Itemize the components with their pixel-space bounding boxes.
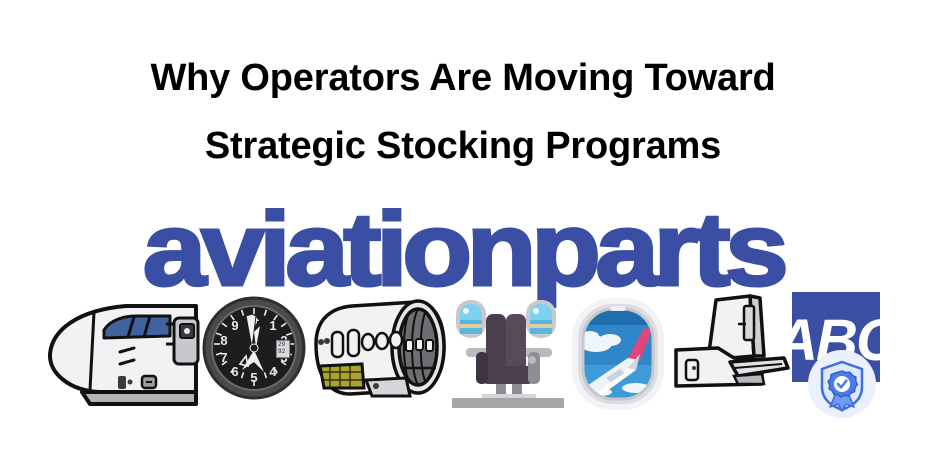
svg-text:92: 92 xyxy=(278,348,286,355)
fuselage-barrel-icon xyxy=(306,292,454,410)
page-title: Why Operators Are Moving Toward Strategi… xyxy=(0,44,926,180)
aircraft-nose-cockpit-icon xyxy=(38,292,206,412)
svg-text:29: 29 xyxy=(278,341,286,348)
page-title-line-2: Strategic Stocking Programs xyxy=(0,112,926,180)
brand-wordmark: aviationparts xyxy=(0,198,926,302)
svg-text:5: 5 xyxy=(250,370,257,385)
page-title-line-1: Why Operators Are Moving Toward xyxy=(150,57,775,99)
svg-text:4: 4 xyxy=(269,364,277,379)
image-canvas: Why Operators Are Moving Toward Strategi… xyxy=(0,0,926,453)
abc-certified-badge-icon: ABC xyxy=(790,292,888,420)
aircraft-tail-icon xyxy=(672,292,792,398)
svg-text:7: 7 xyxy=(220,350,227,365)
aircraft-seat-icon xyxy=(452,292,564,412)
svg-text:9: 9 xyxy=(231,318,238,333)
svg-text:6: 6 xyxy=(231,364,238,379)
svg-text:8: 8 xyxy=(220,333,227,348)
altimeter-gauge-icon: 0 1 2 3 4 5 6 7 8 9 2992 xyxy=(202,292,306,410)
svg-text:1: 1 xyxy=(269,318,276,333)
cabin-window-view-icon xyxy=(566,292,670,414)
aviation-icon-strip: 0 1 2 3 4 5 6 7 8 9 2992 xyxy=(0,292,926,422)
